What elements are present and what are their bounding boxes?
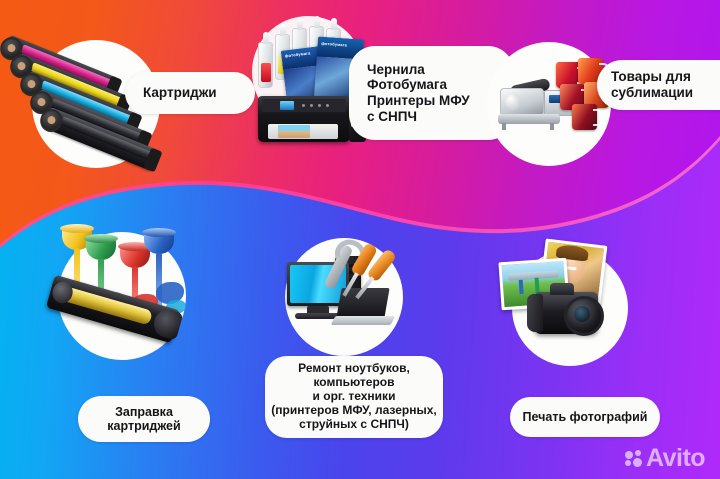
card-label-photo-printing[interactable]: Печать фотографий xyxy=(510,397,660,437)
banner-root: Картриджи фотобумага фотобумага xyxy=(0,0,720,479)
camera-photos-icon xyxy=(496,242,646,362)
card-label-cartridges[interactable]: Картриджи xyxy=(125,72,255,114)
avito-wordmark: Avito xyxy=(646,446,705,471)
card-label-computer-repair[interactable]: Ремонт ноутбуков, компьютеров и орг. тех… xyxy=(265,356,443,438)
card-label-cartridge-refill[interactable]: Заправка картриджей xyxy=(78,396,210,442)
card-label-sublimation[interactable]: Товары для сублимации xyxy=(597,60,720,110)
computer-tools-icon xyxy=(283,240,443,350)
avito-watermark: Avito xyxy=(625,446,705,471)
avito-dots-logo-icon xyxy=(625,450,642,467)
